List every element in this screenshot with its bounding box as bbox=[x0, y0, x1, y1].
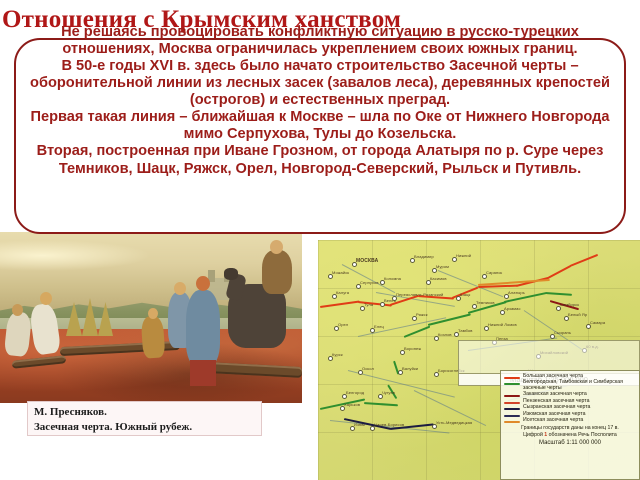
map-city-label: Тамбов bbox=[458, 328, 472, 333]
map-city-label: Ряжск bbox=[416, 312, 428, 317]
map-city-label: Белый Яр bbox=[568, 312, 587, 317]
legend-color-swatch bbox=[504, 402, 520, 404]
painting-horse-head bbox=[224, 268, 238, 280]
legend-entry: Белгородская, Тамбовская и Симбирская за… bbox=[504, 380, 636, 391]
painting-caption-author: М. Пресняков. bbox=[34, 405, 255, 420]
map-city-label: Арзамас bbox=[504, 306, 521, 311]
map-city-label: Орел bbox=[338, 322, 348, 327]
legend-note-suffix: обозначена Речь Посполита bbox=[549, 432, 617, 438]
legend-note-number: Цифрой 1 обозначена Речь Посполита bbox=[504, 432, 636, 439]
map-city-label: Калуга bbox=[336, 290, 349, 295]
painting-soldier-head bbox=[174, 282, 186, 295]
slide-body-text: Не решаясь провоцировать конфликтную сит… bbox=[20, 24, 620, 178]
painting-caption: М. Пресняков. Засечная черта. Южный рубе… bbox=[27, 401, 262, 436]
map-city-label: Изюм bbox=[354, 422, 365, 427]
painting-rider bbox=[262, 250, 292, 294]
map-city-label: МОСКВА bbox=[356, 258, 378, 264]
painting-worker-head bbox=[40, 292, 52, 305]
map-legend: Большая засечная чертаБелгородская, Тамб… bbox=[500, 370, 640, 480]
map-city-label: Темников bbox=[476, 300, 495, 305]
legend-color-swatch bbox=[504, 395, 520, 397]
legend-entry: Исетская засечная черта bbox=[504, 418, 636, 423]
historical-map-image: МОСКВАМожайскВладимирМуромНижнийСаранскК… bbox=[318, 240, 640, 480]
map-city-label: Касимов bbox=[430, 276, 447, 281]
legend-note-borders: Границы государств даны на конец 17 в. bbox=[504, 425, 636, 432]
map-city-label: Валуйки bbox=[402, 366, 418, 371]
painting-rider-head bbox=[270, 240, 283, 254]
body-paragraph: Не решаясь провоцировать конфликтную сит… bbox=[20, 24, 620, 58]
map-city-label: Самара bbox=[590, 320, 605, 325]
map-city-label: Тула bbox=[364, 302, 373, 307]
legend-color-swatch bbox=[504, 408, 520, 410]
painting-worker-head bbox=[148, 308, 158, 319]
painting-soldier-head bbox=[196, 276, 210, 291]
map-city-label: Серпухов bbox=[360, 280, 379, 285]
body-paragraph: Вторая, построенная при Иване Грозном, о… bbox=[20, 143, 620, 177]
painting-worker-head bbox=[12, 304, 23, 316]
map-city-label: Козлов bbox=[438, 332, 452, 337]
legend-color-swatch bbox=[504, 383, 520, 385]
legend-color-swatch bbox=[504, 377, 520, 379]
legend-entry-label: Закамская засечная черта bbox=[523, 392, 587, 397]
map-city-label: Нижний bbox=[456, 253, 471, 258]
legend-entry-label: Исетская засечная черта bbox=[523, 418, 583, 423]
legend-entry-list: Большая засечная чертаБелгородская, Тамб… bbox=[504, 374, 636, 424]
map-city-label: Муром bbox=[436, 264, 449, 269]
map-city-label: Харьков bbox=[344, 402, 360, 407]
legend-note-prefix: Цифрой bbox=[523, 432, 543, 438]
map-city-label: Усть-Медведицкая bbox=[436, 420, 472, 425]
painting-caption-title: Засечная черта. Южный рубеж. bbox=[34, 420, 255, 435]
map-city-label: Елец bbox=[374, 324, 384, 329]
map-city-label: Алатырь bbox=[508, 290, 525, 295]
map-city-label: Шацк bbox=[460, 292, 470, 297]
map-city-label: Саранск bbox=[486, 270, 502, 275]
legend-entry-label: Сызранская засечная черта bbox=[523, 405, 590, 410]
legend-color-swatch bbox=[504, 421, 520, 423]
map-city-label: Владимир bbox=[414, 254, 434, 259]
legend-entry: Сызранская засечная черта bbox=[504, 405, 636, 410]
painting-soldier-legs bbox=[190, 360, 216, 386]
map-city-label: Чугуев bbox=[382, 390, 395, 395]
body-paragraph: Первая такая линия – ближайшая к Москве … bbox=[20, 109, 620, 143]
painting-image bbox=[0, 232, 302, 403]
body-paragraph: В 50-е годы XVI в. здесь было начато стр… bbox=[20, 58, 620, 109]
map-city-label: Нижний Ломов bbox=[488, 322, 517, 327]
legend-scale-label: Масштаб 1:11 000 000 bbox=[504, 440, 636, 446]
painting-soldier bbox=[186, 290, 220, 366]
map-city-label: Курск bbox=[332, 352, 343, 357]
map-city-label: Сызрань bbox=[554, 330, 571, 335]
legend-entry: Закамская засечная черта bbox=[504, 392, 636, 397]
legend-note-digit: 1 bbox=[544, 432, 547, 438]
legend-entry-label: Белгородская, Тамбовская и Симбирская за… bbox=[523, 380, 636, 391]
map-city-label: Переяславль-Рязанский bbox=[396, 292, 443, 297]
map-city-label: Коломна bbox=[384, 276, 401, 281]
map-city-label: Можайск bbox=[332, 270, 349, 275]
map-city-label: Белгород bbox=[346, 390, 364, 395]
presentation-slide: МОСКВАМожайскВладимирМуромНижнийСаранскК… bbox=[0, 0, 640, 480]
map-city-label: Оскол bbox=[362, 366, 374, 371]
map-city-label: Царев-Борисов bbox=[374, 422, 404, 427]
legend-color-swatch bbox=[504, 415, 520, 417]
map-city-label: Воронеж bbox=[404, 346, 421, 351]
map-city-label: Симбирск bbox=[560, 302, 579, 307]
